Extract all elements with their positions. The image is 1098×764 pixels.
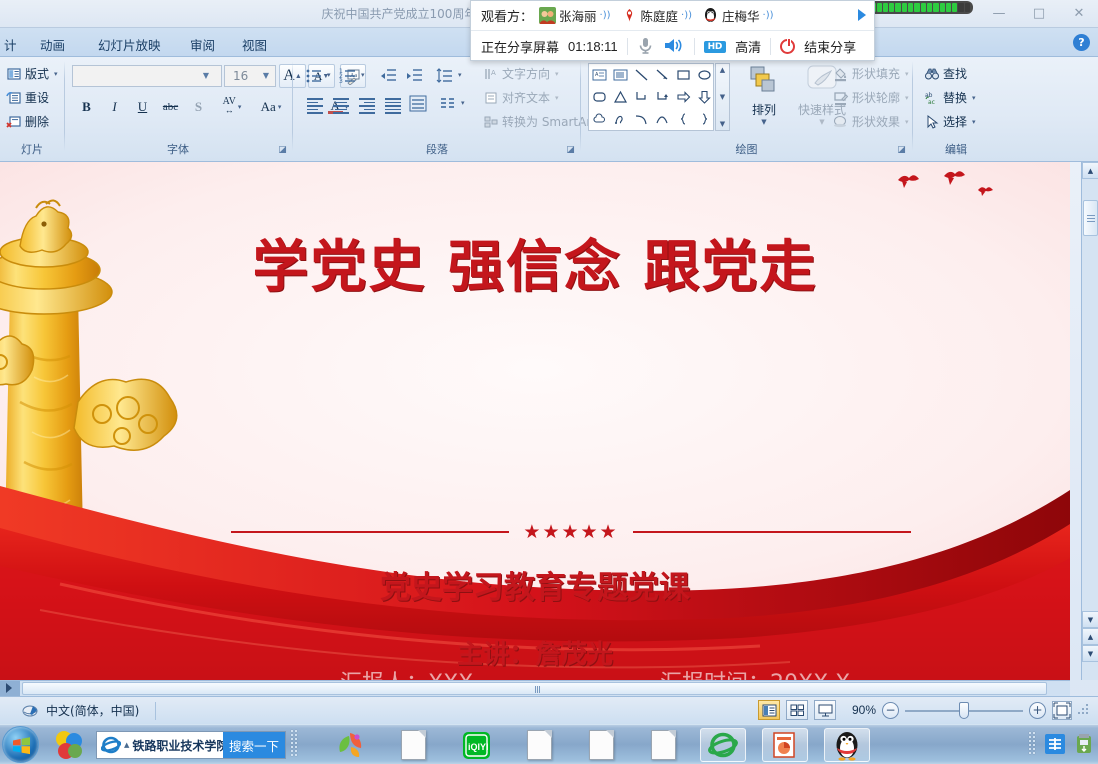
viewer-name: 庄梅华	[722, 6, 760, 25]
document-icon	[651, 730, 676, 760]
text-shadow-button[interactable]: S	[186, 95, 211, 118]
align-right-button[interactable]	[354, 92, 378, 115]
slide-subtitle[interactable]: 党史学习教育专题党课	[0, 562, 1070, 607]
distribute-button[interactable]	[406, 92, 430, 115]
chevron-down-icon[interactable]: ▾	[327, 71, 331, 79]
divider	[694, 38, 695, 55]
viewers-label: 观看方：	[481, 6, 533, 25]
avatar	[702, 7, 719, 24]
zoom-controls: 90% − +	[758, 700, 1090, 720]
line-spacing-button[interactable]	[433, 64, 457, 87]
avatar	[539, 7, 556, 24]
system-tray	[1029, 725, 1094, 764]
delete-label: 删除	[25, 113, 49, 130]
tab-animations[interactable]: 动画	[30, 32, 75, 54]
horizontal-scrollbar[interactable]	[0, 680, 1070, 696]
shapes-more-icon[interactable]: ▼	[720, 120, 725, 128]
speaker-button[interactable]	[663, 36, 685, 58]
align-text-icon	[483, 90, 499, 106]
drawing-dialog-launcher[interactable]: ◪	[896, 145, 907, 156]
microphone-button[interactable]	[637, 36, 654, 58]
chevron-up-icon[interactable]: ▲	[124, 741, 129, 749]
shape-textbox[interactable]: A	[589, 64, 610, 86]
elapsed-time: 01:18:11	[568, 39, 618, 54]
text-direction-label: 文字方向	[502, 65, 550, 82]
powerpoint-icon	[770, 730, 800, 760]
tab-design[interactable]: 计	[0, 32, 27, 54]
shape-right-brace[interactable]	[694, 108, 715, 130]
status-divider	[155, 702, 156, 720]
shape-curve[interactable]	[631, 108, 652, 130]
internet-explorer-icon	[708, 730, 738, 760]
scroll-down-button[interactable]: ▼	[1082, 611, 1098, 628]
chevron-down-icon: ▾	[54, 70, 58, 78]
zoom-in-button[interactable]: +	[1029, 702, 1046, 719]
quality-label[interactable]: 高清	[735, 37, 761, 56]
expand-viewers-icon[interactable]	[858, 9, 866, 21]
justify-button[interactable]	[380, 92, 404, 115]
taskbar: ▲ 铁路职业技术学院 搜索一下 iQI	[0, 724, 1098, 764]
align-text-button[interactable]: 对齐文本 ▾	[479, 87, 563, 108]
shape-cloud-callout[interactable]	[589, 108, 610, 130]
shape-arrow[interactable]	[652, 64, 673, 86]
close-button[interactable]: ✕	[1066, 4, 1092, 22]
tab-view[interactable]: 视图	[232, 32, 277, 54]
shape-effects-label: 形状效果	[852, 113, 900, 130]
italic-button[interactable]: I	[102, 95, 127, 118]
language-indicator[interactable]: 中文(简体，中国)	[0, 702, 139, 719]
slideshow-view-button[interactable]	[814, 700, 836, 720]
svg-text:3: 3	[339, 78, 343, 85]
ribbon-group-font: ▼ 16 ▼ A▲ A▼ Aa B I	[66, 59, 290, 158]
font-size-value: 16	[233, 69, 248, 83]
numbering-button[interactable]: 123	[336, 64, 360, 87]
shape-fill-button[interactable]: 形状填充 ▾	[829, 63, 913, 84]
tray-grip[interactable]	[1029, 732, 1036, 758]
vertical-scrollbar[interactable]: ▲ ▼ ▲ ▼	[1081, 162, 1098, 680]
shape-left-brace[interactable]	[673, 108, 694, 130]
replace-label: 替换	[943, 89, 967, 106]
minimize-button[interactable]: —	[986, 4, 1012, 22]
paragraph-group-label: 段落	[296, 141, 578, 157]
ribbon-group-drawing: A	[584, 59, 909, 158]
shape-right-arrow[interactable]	[673, 86, 694, 108]
shape-outline-icon	[833, 90, 849, 106]
chevron-down-icon[interactable]: ▾	[461, 99, 465, 107]
chevron-right-icon	[6, 683, 12, 693]
qq-penguin-icon	[832, 729, 862, 761]
start-button[interactable]	[2, 726, 39, 763]
quick-launch-icon[interactable]	[52, 728, 86, 762]
replace-button[interactable]: abac 替换 ▾	[920, 87, 980, 108]
chevron-down-icon: ▼	[203, 71, 209, 80]
ribbon-group-editing: 查找 abac 替换 ▾ 选择 ▾	[916, 59, 996, 158]
font-size-input[interactable]: 16 ▼	[224, 65, 276, 87]
taskbar-app-qq[interactable]	[824, 728, 870, 762]
panel-expand-button[interactable]	[0, 681, 20, 696]
divider	[770, 38, 771, 55]
decrease-indent-button[interactable]	[376, 64, 400, 87]
smartart-label: 转换为 SmartArt	[502, 113, 596, 130]
status-bar: 中文(简体，中国) 90% − +	[0, 696, 1098, 724]
find-button[interactable]: 查找	[920, 63, 971, 84]
audio-wave-icon: ·))	[681, 10, 692, 21]
fit-to-window-button[interactable]	[1052, 701, 1072, 720]
shape-rectangle[interactable]	[673, 64, 694, 86]
viewer-item[interactable]: 张海丽 ·))	[539, 6, 611, 25]
end-share-button[interactable]: 结束分享	[804, 37, 856, 56]
text-direction-button[interactable]: A 文字方向 ▾	[479, 63, 563, 84]
shape-effects-icon	[833, 114, 849, 130]
viewer-item[interactable]: 陈庭庭 ·))	[621, 6, 693, 25]
audio-wave-icon: ·))	[600, 10, 611, 21]
reset-button[interactable]: 重设	[2, 87, 53, 108]
document-icon	[401, 730, 426, 760]
font-name-input[interactable]: ▼	[72, 65, 222, 87]
binoculars-icon	[924, 66, 940, 82]
language-label: 中文(简体，中国)	[46, 702, 139, 719]
scroll-up-button[interactable]: ▲	[1082, 162, 1098, 179]
slides-group-label: 灯片	[0, 141, 64, 157]
help-icon[interactable]: ?	[1073, 34, 1090, 51]
taskbar-app-powerpoint[interactable]	[762, 728, 808, 762]
character-spacing-button[interactable]: AV↔ ▾	[214, 95, 250, 118]
svg-text:iQIYI: iQIYI	[468, 742, 489, 752]
ie-search-text: 铁路职业技术学院	[132, 737, 228, 754]
chevron-down-icon: ▼	[737, 118, 791, 126]
scroll-up-icon[interactable]: ▲	[720, 66, 725, 74]
scroll-down-icon[interactable]: ▼	[720, 93, 725, 101]
bullets-button[interactable]	[302, 64, 326, 87]
qq-screen-share-panel[interactable]: 观看方： 张海丽 ·)) 陈庭庭 ·)) 庄梅华 ·)	[470, 0, 875, 61]
replace-icon: abac	[924, 90, 940, 106]
svg-text:ac: ac	[928, 99, 935, 106]
ribbon-group-slides: 版式 ▾ 重设 删除	[0, 59, 64, 158]
paragraph-dialog-launcher[interactable]: ◪	[565, 145, 576, 156]
align-text-label: 对齐文本	[502, 89, 550, 106]
shape-elbow-arrow[interactable]	[652, 86, 673, 108]
viewer-item[interactable]: 庄梅华 ·))	[702, 6, 774, 25]
ie-search-box[interactable]: ▲ 铁路职业技术学院 搜索一下	[96, 731, 286, 759]
align-left-button[interactable]	[302, 92, 326, 115]
arrange-label: 排列	[737, 101, 791, 118]
ribbon-group-paragraph: ▾ 123 ▾ ▾	[296, 59, 578, 158]
taskbar-doc-2[interactable]	[516, 728, 562, 762]
shape-vertical-textbox[interactable]	[610, 64, 631, 86]
case-label: Aa	[261, 99, 276, 115]
viewer-name: 张海丽	[559, 6, 597, 25]
shape-line[interactable]	[631, 64, 652, 86]
increase-indent-button[interactable]	[402, 64, 426, 87]
horizontal-scroll-thumb[interactable]	[22, 682, 1047, 695]
vertical-scroll-thumb[interactable]	[1083, 200, 1098, 236]
zoom-out-button[interactable]: −	[882, 702, 899, 719]
avatar	[621, 7, 638, 24]
internet-explorer-icon	[101, 735, 121, 755]
strikethrough-button[interactable]: abc	[158, 95, 183, 118]
zoom-level-label: 90%	[842, 703, 876, 717]
shape-fill-label: 形状填充	[852, 65, 900, 82]
divider-line-left	[231, 531, 509, 533]
shape-fill-icon	[833, 66, 849, 82]
cursor-icon	[924, 114, 940, 130]
taskbar-doc-1[interactable]	[390, 728, 436, 762]
drawing-group-label: 绘图	[584, 141, 909, 157]
chevron-down-icon: ▼	[263, 71, 269, 80]
font-dialog-launcher[interactable]: ◪	[277, 145, 288, 156]
arrange-button[interactable]: 排列 ▼	[736, 61, 792, 127]
chevron-down-icon[interactable]: ▾	[458, 71, 462, 79]
slide[interactable]: 学党史 强信念 跟党走 ★★★★★ 党史学习教育专题党课 汇报人：XXX 汇报时…	[0, 162, 1070, 680]
columns-button[interactable]	[436, 92, 460, 115]
power-icon[interactable]	[780, 39, 795, 54]
shapes-scrollbar[interactable]: ▲ ▼ ▼	[715, 63, 730, 131]
qq-controls-row: 正在分享屏幕 01:18:11 HD 高清 结束分享	[471, 32, 874, 61]
viewer-name: 陈庭庭	[641, 6, 679, 25]
shape-triangle[interactable]	[610, 86, 631, 108]
ie-search-button[interactable]: 搜索一下	[223, 732, 285, 758]
audio-wave-icon: ·))	[763, 10, 774, 21]
sharing-status-label: 正在分享屏幕	[481, 37, 559, 56]
slide-speaker[interactable]: 主讲：詹茂光	[0, 634, 1070, 671]
shape-arc[interactable]	[652, 108, 673, 130]
star-divider: ★★★★★	[231, 517, 911, 547]
align-center-button[interactable]	[328, 92, 352, 115]
zoom-slider-handle[interactable]	[959, 702, 969, 719]
previous-slide-button[interactable]: ▲	[1082, 628, 1098, 645]
slide-main-title[interactable]: 学党史 强信念 跟党走	[0, 222, 1070, 303]
desktop: 庆祝中国共产党成立100周年党史学习教育专题党课培 — □ ✕ 计 动画 幻灯片…	[0, 0, 1098, 764]
ribbon: 版式 ▾ 重设 删除	[0, 57, 1098, 162]
tab-review[interactable]: 审阅	[180, 32, 225, 54]
divider-line-right	[633, 531, 911, 533]
windows-logo-icon	[12, 736, 31, 755]
editing-group-label: 编辑	[916, 141, 996, 157]
shape-down-arrow[interactable]	[694, 86, 715, 108]
find-label: 查找	[943, 65, 967, 82]
layout-label: 版式	[25, 65, 49, 82]
shape-outline-label: 形状轮廓	[852, 89, 900, 106]
layout-icon	[6, 66, 22, 82]
taskbar-app-iqiyi[interactable]: iQIYI	[453, 728, 499, 762]
next-slide-button[interactable]: ▼	[1082, 645, 1098, 662]
document-icon	[589, 730, 614, 760]
document-icon	[527, 730, 552, 760]
tab-slideshow[interactable]: 幻灯片放映	[88, 32, 171, 54]
toolbar-grip[interactable]	[291, 730, 298, 760]
shape-rounded-rect[interactable]	[589, 86, 610, 108]
chevron-down-icon[interactable]: ▾	[361, 71, 365, 79]
zoom-slider[interactable]	[905, 702, 1023, 719]
bold-button[interactable]: B	[74, 95, 99, 118]
underline-button[interactable]: U	[130, 95, 155, 118]
slide-canvas[interactable]: 学党史 强信念 跟党走 ★★★★★ 党史学习教育专题党课 汇报人：XXX 汇报时…	[0, 162, 1070, 680]
tray-ime-icon[interactable]	[1045, 734, 1065, 757]
delete-slide-button[interactable]: 删除	[2, 111, 53, 132]
grow-font-label: A	[283, 67, 295, 85]
reset-icon	[6, 90, 22, 106]
taskbar-doc-4[interactable]	[640, 728, 686, 762]
delete-icon	[6, 114, 22, 130]
svg-text:A: A	[491, 69, 496, 77]
divider	[627, 38, 628, 55]
shape-oval[interactable]	[694, 64, 715, 86]
slide-text-content: 学党史 强信念 跟党走 ★★★★★ 党史学习教育专题党课 汇报人：XXX 汇报时…	[0, 162, 1070, 680]
change-case-button[interactable]: Aa▾	[254, 95, 288, 118]
maximize-button[interactable]: □	[1026, 4, 1052, 22]
normal-view-button[interactable]	[758, 700, 780, 720]
qq-viewers-row: 观看方： 张海丽 ·)) 陈庭庭 ·)) 庄梅华 ·)	[471, 1, 874, 31]
taskbar-app-fanqie[interactable]	[327, 728, 373, 762]
font-group-label: 字体	[66, 141, 290, 157]
resize-grip[interactable]	[1078, 704, 1090, 716]
taskbar-doc-3[interactable]	[578, 728, 624, 762]
smartart-icon	[483, 114, 499, 130]
shape-outline-button[interactable]: 形状轮廓 ▾	[829, 87, 913, 108]
shape-elbow-connector[interactable]	[631, 86, 652, 108]
taskbar-app-internet-explorer[interactable]	[700, 728, 746, 762]
shape-freeform[interactable]	[610, 108, 631, 130]
reset-label: 重设	[25, 89, 49, 106]
stars-decoration: ★★★★★	[523, 523, 618, 542]
select-button[interactable]: 选择 ▾	[920, 111, 980, 132]
language-icon	[22, 703, 38, 719]
svg-text:A: A	[595, 72, 599, 78]
text-direction-icon: A	[483, 66, 499, 82]
tray-usb-icon[interactable]	[1074, 733, 1094, 758]
layout-button[interactable]: 版式 ▾	[2, 63, 62, 84]
shapes-gallery[interactable]: A	[588, 63, 714, 131]
shape-effects-button[interactable]: 形状效果 ▾	[829, 111, 913, 132]
signal-strength-icon	[861, 1, 973, 14]
hd-badge: HD	[704, 41, 726, 53]
powerpoint-window: 庆祝中国共产党成立100周年党史学习教育专题党课培 — □ ✕ 计 动画 幻灯片…	[0, 0, 1098, 724]
slide-sorter-button[interactable]	[786, 700, 808, 720]
select-label: 选择	[943, 113, 967, 130]
